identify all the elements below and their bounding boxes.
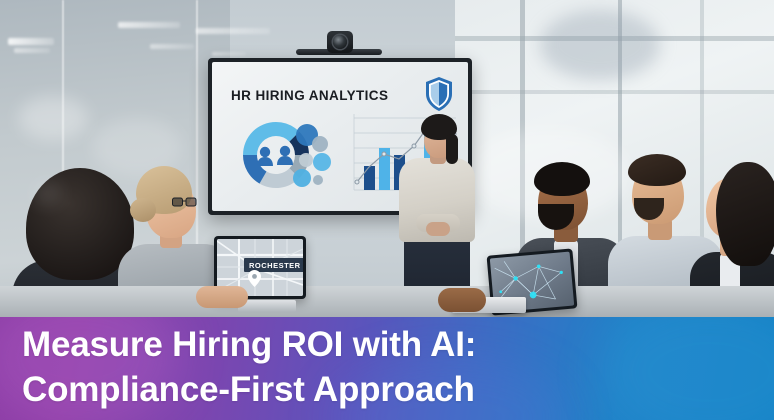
attendee-left-2-hair-bun xyxy=(130,198,156,222)
page-title-line-2: Compliance-First Approach xyxy=(22,367,476,412)
page-title-line-1: Measure Hiring ROI with AI: xyxy=(22,322,476,367)
ceiling-light xyxy=(8,38,54,45)
banner-glow xyxy=(600,317,774,420)
camera-lens-icon xyxy=(333,35,347,49)
attendee-right-1-hair xyxy=(534,162,590,196)
location-pin-icon xyxy=(248,270,261,287)
page-title: Measure Hiring ROI with AI: Compliance-F… xyxy=(22,322,476,412)
donut-chart xyxy=(234,110,332,200)
presenter-ponytail xyxy=(446,134,458,164)
ceiling-light xyxy=(150,44,194,49)
presentation-title: HR HIRING ANALYTICS xyxy=(231,88,388,103)
glass-reflection xyxy=(18,96,88,140)
title-banner: Measure Hiring ROI with AI: Compliance-F… xyxy=(0,317,774,420)
ceiling-light xyxy=(14,48,50,53)
ceiling-light xyxy=(118,22,180,28)
attendee-right-3-hair xyxy=(716,162,774,266)
screenshot-root: HR HIRING ANALYTICS xyxy=(0,0,774,420)
ceiling-light xyxy=(196,28,270,34)
ceiling-light xyxy=(212,52,246,56)
window-shadow xyxy=(540,10,660,80)
presenter-hands xyxy=(426,222,450,236)
hands-right xyxy=(438,288,486,312)
security-shield-icon xyxy=(424,76,454,112)
window-mullion xyxy=(455,90,774,94)
eyeglasses-icon xyxy=(172,196,198,208)
hands-left xyxy=(196,286,248,308)
attendee-right-2-hair xyxy=(628,154,686,186)
hair-highlight xyxy=(32,180,62,206)
